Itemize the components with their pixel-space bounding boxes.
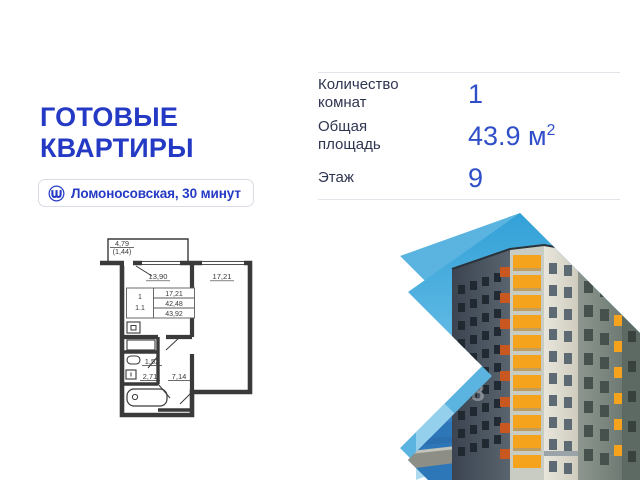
metro-station-label: Ломоносовская, 30 минут	[71, 186, 241, 201]
spec-label-rooms-line-2: комнат	[318, 94, 367, 111]
spec-label-total-area-line-1: Общая	[318, 118, 367, 135]
spec-value-total-area-number: 43.9 м	[468, 121, 547, 151]
spec-label-total-area: Общая площадь	[318, 118, 468, 154]
spec-row-rooms: Количество комнат 1	[318, 73, 620, 115]
spec-value-rooms: 1	[468, 79, 483, 109]
floorplan-living-room-area: 17,21	[212, 272, 231, 281]
floorplan-balcony-area-coef: (1,44)	[113, 247, 132, 256]
spec-row-total-area: Общая площадь 43.9 м2	[318, 115, 620, 157]
spec-row-floor: Этаж 9	[318, 157, 620, 199]
spb-metro-logo-icon	[48, 185, 65, 202]
metro-station-badge[interactable]: Ломоносовская, 30 минут	[38, 179, 254, 207]
spec-label-rooms: Количество комнат	[318, 76, 468, 112]
spec-value-rooms-number: 1	[468, 79, 483, 109]
spec-label-total-area-line-2: площадь	[318, 136, 381, 153]
spec-value-total-area: 43.9 м2	[468, 121, 555, 151]
floorplan-stamp-area-with-balcony: 43,92	[165, 311, 183, 318]
spec-value-floor-number: 9	[468, 163, 483, 193]
spec-label-floor-line-1: Этаж	[318, 169, 354, 186]
page-title-line-2: КВАРТИРЫ	[40, 133, 310, 164]
spec-label-floor: Этаж	[318, 169, 468, 187]
spec-label-rooms-line-1: Количество	[318, 76, 399, 93]
floorplan-toilet-area: 1,52	[145, 357, 159, 366]
building-photo-graphic: 1368	[392, 205, 640, 480]
page-title-line-1: ГОТОВЫЕ	[40, 102, 310, 133]
floorplan-stamp-living-area: 17,21	[165, 291, 183, 298]
spec-value-floor: 9	[468, 163, 483, 193]
floorplan-bath-small-area: 2,71	[143, 372, 157, 381]
page-title: ГОТОВЫЕ КВАРТИРЫ	[40, 102, 310, 164]
floorplan-flat-number: 1	[138, 294, 142, 301]
floorplan[interactable]: 4,79 (1,44) 13,90 17,21 1 1.1 17,21 42,4…	[80, 232, 270, 427]
floorplan-hall-area: 7,14	[172, 372, 187, 381]
floorplan-kitchen-area: 13,90	[148, 272, 167, 281]
specs-panel: Количество комнат 1 Общая площадь 43.9 м…	[318, 72, 620, 200]
spec-value-total-area-unit-exponent: 2	[547, 122, 556, 139]
specs-divider-bottom	[318, 199, 620, 200]
listing-card: ГОТОВЫЕ КВАРТИРЫ Ломоносовская, 30 минут…	[0, 0, 640, 480]
floorplan-flat-index: 1.1	[135, 305, 145, 312]
floorplan-stamp-area-no-balcony: 42,48	[165, 301, 183, 308]
